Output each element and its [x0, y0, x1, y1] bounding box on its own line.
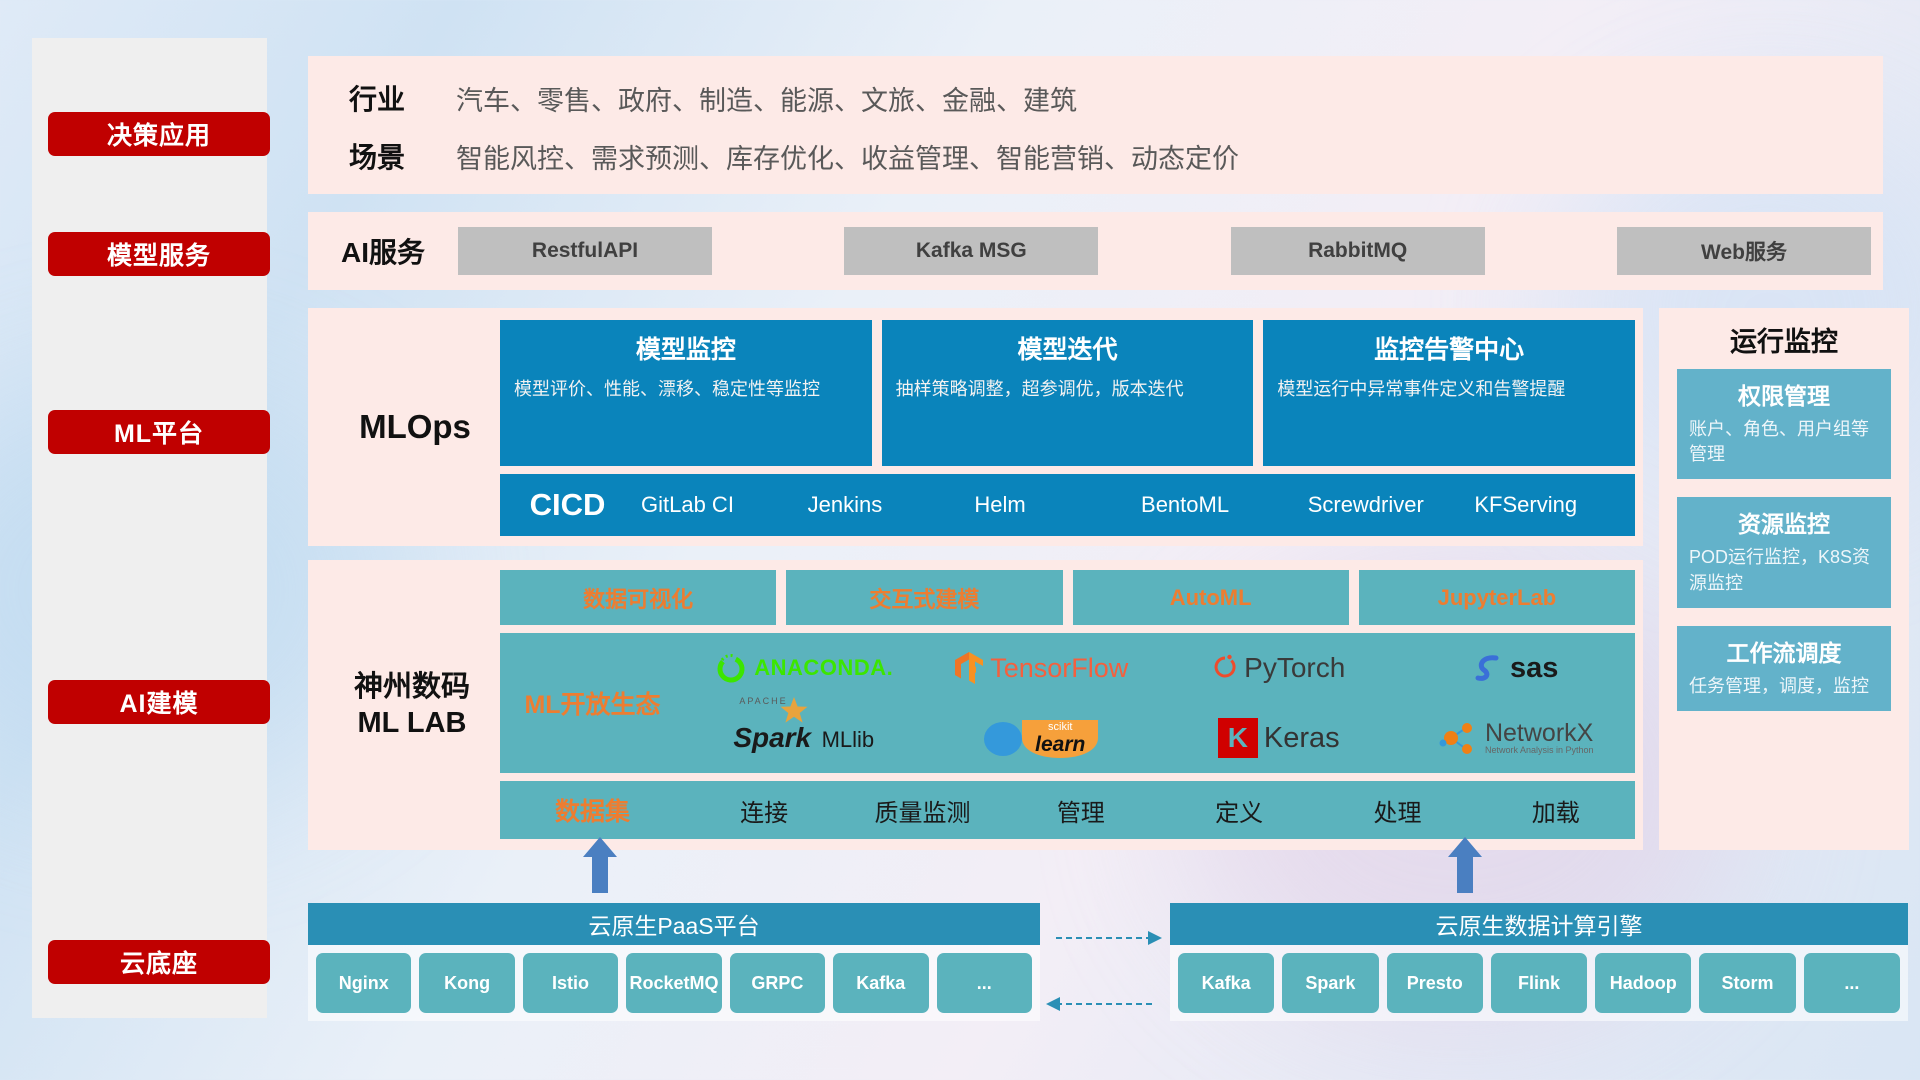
networkx-text: NetworkX	[1485, 721, 1594, 746]
cicd-item-gitlab-ci[interactable]: GitLab CI	[635, 492, 802, 517]
dataset-item-manage[interactable]: 管理	[1002, 793, 1160, 828]
mlops-card-model-iteration[interactable]: 模型迭代 抽样策略调整，超参调优，版本迭代	[882, 320, 1254, 466]
cloud-data-engine-chips: Kafka Spark Presto Flink Hadoop Storm ..…	[1170, 945, 1908, 1021]
spark-text: Spark	[733, 722, 811, 753]
runtime-monitor-column: 运行监控 权限管理 账户、角色、用户组等管理 资源监控 POD运行监控，K8S资…	[1659, 308, 1909, 850]
dataset-item-define[interactable]: 定义	[1160, 793, 1318, 828]
rail-item-ml-platform[interactable]: ML平台	[48, 410, 270, 454]
tool-data-visualization[interactable]: 数据可视化	[500, 570, 776, 625]
cicd-item-bentoml[interactable]: BentoML	[1135, 492, 1302, 517]
chip-rocketmq[interactable]: RocketMQ	[626, 953, 721, 1013]
monitor-card-permission[interactable]: 权限管理 账户、角色、用户组等管理	[1677, 369, 1891, 479]
mlops-band: MLOps 模型监控 模型评价、性能、漂移、稳定性等监控 模型迭代 抽样策略调整…	[308, 308, 1643, 546]
dataset-item-process[interactable]: 处理	[1318, 793, 1476, 828]
ml-ecosystem-row: ML开放生态 ANACONDA.	[500, 633, 1635, 773]
tool-jupyterlab[interactable]: JupyterLab	[1359, 570, 1635, 625]
ai-modelling-band: 神州数码 ML LAB 数据可视化 交互式建模 AutoML JupyterLa…	[308, 560, 1643, 850]
dash-line-left	[1056, 1003, 1152, 1005]
scikit-learn-logo: scikit learn	[982, 718, 1100, 758]
dataset-items: 连接 质量监测 管理 定义 处理 加载	[685, 793, 1635, 828]
industry-label: 行业	[322, 78, 432, 118]
chip-grpc[interactable]: GRPC	[730, 953, 825, 1013]
chip-flink[interactable]: Flink	[1491, 953, 1587, 1013]
rail-item-ai-modelling[interactable]: AI建模	[48, 680, 270, 724]
sas-text: sas	[1510, 652, 1558, 685]
dataset-label: 数据集	[500, 792, 685, 828]
ml-lab-label: 神州数码 ML LAB	[322, 560, 502, 850]
industry-row: 行业 汽车、零售、政府、制造、能源、文旅、金融、建筑	[322, 78, 1077, 118]
tool-row: 数据可视化 交互式建模 AutoML JupyterLab	[500, 570, 1635, 625]
rail-item-decision-app[interactable]: 决策应用	[48, 112, 270, 156]
dataset-row: 数据集 连接 质量监测 管理 定义 处理 加载	[500, 781, 1635, 839]
networkx-sub-text: Network Analysis in Python	[1485, 746, 1594, 755]
ecosystem-logos: ANACONDA. TensorFlow	[685, 633, 1635, 773]
rail-label: 模型服务	[107, 236, 211, 272]
chip-kong[interactable]: Kong	[419, 953, 514, 1013]
ai-service-cells: RestfulAPI Kafka MSG RabbitMQ Web服务	[458, 227, 1883, 275]
dash-arrow-right-icon	[1148, 929, 1166, 947]
cloud-paas-block: 云原生PaaS平台 Nginx Kong Istio RocketMQ GRPC…	[308, 903, 1040, 1021]
ml-lab-line1: 神州数码	[354, 669, 470, 705]
rail-label: AI建模	[119, 684, 198, 720]
cicd-item-helm[interactable]: Helm	[968, 492, 1135, 517]
mlops-label: MLOps	[330, 308, 500, 546]
scikit-text: scikit	[1020, 720, 1100, 733]
mlops-card-alert-center[interactable]: 监控告警中心 模型运行中异常事件定义和告警提醒	[1263, 320, 1635, 466]
mlops-cards: 模型监控 模型评价、性能、漂移、稳定性等监控 模型迭代 抽样策略调整，超参调优，…	[500, 320, 1635, 466]
chip-kafka-engine[interactable]: Kafka	[1178, 953, 1274, 1013]
dash-line-right	[1056, 937, 1152, 939]
anaconda-icon	[714, 651, 748, 685]
tensorflow-icon	[954, 651, 984, 685]
card-desc: 账户、角色、用户组等管理	[1689, 417, 1879, 467]
card-desc: POD运行监控，K8S资源监控	[1689, 545, 1879, 595]
sas-icon	[1474, 652, 1504, 684]
tensorflow-text: TensorFlow	[990, 653, 1128, 684]
learn-text: learn	[1020, 733, 1100, 756]
keras-mark-text: K	[1228, 722, 1248, 754]
pytorch-icon	[1212, 652, 1238, 684]
keras-text: Keras	[1264, 722, 1340, 755]
tool-automl[interactable]: AutoML	[1073, 570, 1349, 625]
rail-label: 云底座	[120, 944, 198, 980]
card-desc: 模型运行中异常事件定义和告警提醒	[1277, 376, 1621, 402]
industry-scenario-band: 行业 汽车、零售、政府、制造、能源、文旅、金融、建筑 场景 智能风控、需求预测、…	[308, 56, 1883, 194]
cicd-items: GitLab CI Jenkins Helm BentoML Screwdriv…	[635, 492, 1635, 517]
scikit-blue-blob-icon	[982, 718, 1024, 758]
cloud-paas-chips: Nginx Kong Istio RocketMQ GRPC Kafka ...	[308, 945, 1040, 1021]
ai-service-cell-kafka-msg[interactable]: Kafka MSG	[844, 227, 1098, 275]
dataset-item-connect[interactable]: 连接	[685, 793, 843, 828]
networkx-graph-icon	[1439, 718, 1479, 758]
cloud-paas-title: 云原生PaaS平台	[308, 903, 1040, 945]
scenario-label: 场景	[322, 136, 432, 176]
dash-arrow-left-icon	[1042, 995, 1060, 1013]
tool-interactive-modelling[interactable]: 交互式建模	[786, 570, 1062, 625]
monitor-card-resource[interactable]: 资源监控 POD运行监控，K8S资源监控	[1677, 497, 1891, 607]
chip-istio[interactable]: Istio	[523, 953, 618, 1013]
monitor-card-workflow[interactable]: 工作流调度 任务管理，调度，监控	[1677, 626, 1891, 711]
ai-service-cell-restfulapi[interactable]: RestfulAPI	[458, 227, 712, 275]
card-title: 模型监控	[514, 330, 858, 366]
ai-service-band: AI服务 RestfulAPI Kafka MSG RabbitMQ Web服务	[308, 212, 1883, 290]
dataset-item-quality-monitor[interactable]: 质量监测	[843, 793, 1001, 828]
card-desc: 模型评价、性能、漂移、稳定性等监控	[514, 376, 858, 402]
card-desc: 抽样策略调整，超参调优，版本迭代	[896, 376, 1240, 402]
tensorflow-logo: TensorFlow	[954, 651, 1128, 685]
anaconda-text: ANACONDA.	[754, 655, 893, 681]
rail-item-cloud-base[interactable]: 云底座	[48, 940, 270, 984]
keras-mark-icon: K	[1218, 718, 1258, 758]
cloud-data-engine-block: 云原生数据计算引擎 Kafka Spark Presto Flink Hadoo…	[1170, 903, 1908, 1021]
card-title: 监控告警中心	[1277, 330, 1621, 366]
ml-lab-line2: ML LAB	[357, 705, 466, 741]
chip-presto[interactable]: Presto	[1387, 953, 1483, 1013]
card-title: 模型迭代	[896, 330, 1240, 366]
card-title: 权限管理	[1689, 377, 1879, 411]
ml-ecosystem-label: ML开放生态	[500, 685, 685, 721]
card-title: 工作流调度	[1689, 634, 1879, 668]
mllib-text: MLlib	[822, 727, 875, 752]
cicd-item-jenkins[interactable]: Jenkins	[802, 492, 969, 517]
left-rail	[32, 38, 267, 1018]
industry-values: 汽车、零售、政府、制造、能源、文旅、金融、建筑	[456, 79, 1077, 118]
anaconda-logo: ANACONDA.	[714, 651, 893, 685]
cicd-item-kfserving[interactable]: KFServing	[1468, 492, 1635, 517]
chip-nginx[interactable]: Nginx	[316, 953, 411, 1013]
card-title: 资源监控	[1689, 505, 1879, 539]
scenario-values: 智能风控、需求预测、库存优化、收益管理、智能营销、动态定价	[456, 137, 1239, 176]
cicd-label: CICD	[500, 487, 635, 523]
cicd-row: CICD GitLab CI Jenkins Helm BentoML Scre…	[500, 474, 1635, 536]
spark-mllib-logo: APACHE Spark MLlib	[733, 722, 874, 754]
chip-storm[interactable]: Storm	[1699, 953, 1795, 1013]
pytorch-logo: PyTorch	[1212, 652, 1345, 684]
ai-service-cell-rabbitmq[interactable]: RabbitMQ	[1231, 227, 1485, 275]
rail-label: ML平台	[114, 414, 204, 450]
chip-more-paas[interactable]: ...	[937, 953, 1032, 1013]
chip-kafka-paas[interactable]: Kafka	[833, 953, 928, 1013]
ai-service-label: AI服务	[308, 231, 458, 271]
cloud-data-engine-title: 云原生数据计算引擎	[1170, 903, 1908, 945]
sas-logo: sas	[1474, 652, 1558, 685]
card-desc: 任务管理，调度，监控	[1689, 674, 1879, 699]
pytorch-text: PyTorch	[1244, 652, 1345, 684]
arrow-up-paas-icon	[583, 837, 617, 893]
chip-more-engine[interactable]: ...	[1804, 953, 1900, 1013]
mlops-card-model-monitor[interactable]: 模型监控 模型评价、性能、漂移、稳定性等监控	[500, 320, 872, 466]
dataset-item-load[interactable]: 加载	[1477, 793, 1635, 828]
keras-logo: K Keras	[1218, 718, 1340, 758]
networkx-logo: NetworkX Network Analysis in Python	[1439, 718, 1594, 758]
rail-item-model-service[interactable]: 模型服务	[48, 232, 270, 276]
ai-service-cell-web-service[interactable]: Web服务	[1617, 227, 1871, 275]
cicd-item-screwdriver[interactable]: Screwdriver	[1302, 492, 1469, 517]
arrow-up-data-engine-icon	[1448, 837, 1482, 893]
cloud-base-section: 云原生PaaS平台 Nginx Kong Istio RocketMQ GRPC…	[308, 885, 1908, 1035]
runtime-monitor-title: 运行监控	[1659, 320, 1909, 359]
spark-star-icon	[779, 696, 809, 726]
chip-spark[interactable]: Spark	[1282, 953, 1378, 1013]
scenario-row: 场景 智能风控、需求预测、库存优化、收益管理、智能营销、动态定价	[322, 136, 1239, 176]
chip-hadoop[interactable]: Hadoop	[1595, 953, 1691, 1013]
rail-label: 决策应用	[107, 116, 211, 152]
architecture-diagram: 决策应用 模型服务 ML平台 AI建模 云底座 行业 汽车、零售、政府、制造、能…	[0, 0, 1920, 1080]
